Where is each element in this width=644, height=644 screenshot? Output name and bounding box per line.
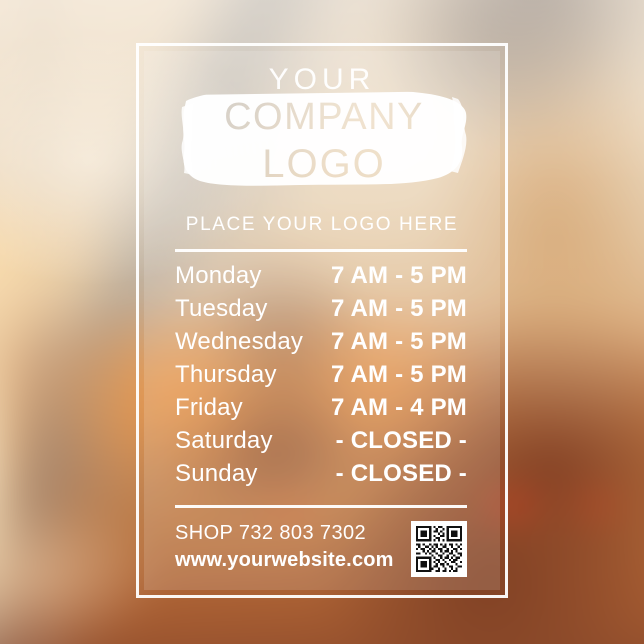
hours-day-label: Sunday bbox=[175, 460, 258, 488]
hours-time-value: - CLOSED - bbox=[336, 460, 467, 488]
hours-row: Saturday - CLOSED - bbox=[175, 427, 467, 460]
brush-stroke-logo: COMPANY LOGO bbox=[180, 83, 468, 191]
hours-day-label: Thursday bbox=[175, 361, 277, 389]
hours-row: Monday 7 AM - 5 PM bbox=[175, 262, 467, 295]
logo-placeholder-block: YOUR COMPANY LOGO bbox=[144, 55, 500, 205]
logo-tagline: PLACE YOUR LOGO HERE bbox=[144, 214, 500, 236]
hours-time-value: 7 AM - 5 PM bbox=[331, 328, 467, 356]
website-url: www.yourwebsite.com bbox=[175, 547, 394, 574]
opening-hours-list: Monday 7 AM - 5 PM Tuesday 7 AM - 5 PM W… bbox=[175, 262, 467, 493]
hours-row: Friday 7 AM - 4 PM bbox=[175, 394, 467, 427]
hours-day-label: Friday bbox=[175, 394, 243, 422]
hours-day-label: Tuesday bbox=[175, 295, 268, 323]
hours-day-label: Wednesday bbox=[175, 328, 303, 356]
hours-row: Sunday - CLOSED - bbox=[175, 460, 467, 493]
hours-row: Wednesday 7 AM - 5 PM bbox=[175, 328, 467, 361]
qr-code[interactable] bbox=[411, 521, 467, 577]
hours-time-value: 7 AM - 5 PM bbox=[331, 295, 467, 323]
hours-time-value: - CLOSED - bbox=[336, 427, 467, 455]
hours-day-label: Saturday bbox=[175, 427, 273, 455]
hours-time-value: 7 AM - 5 PM bbox=[331, 262, 467, 290]
hours-day-label: Monday bbox=[175, 262, 262, 290]
hours-row: Tuesday 7 AM - 5 PM bbox=[175, 295, 467, 328]
contact-block: SHOP 732 803 7302 www.yourwebsite.com bbox=[175, 520, 394, 574]
divider-top bbox=[175, 249, 467, 252]
divider-bottom bbox=[175, 505, 467, 508]
window-decal-poster: YOUR COMPANY LOGO bbox=[0, 0, 644, 644]
poster-footer: SHOP 732 803 7302 www.yourwebsite.com bbox=[175, 520, 467, 580]
hours-time-value: 7 AM - 4 PM bbox=[331, 394, 467, 422]
phone-number: SHOP 732 803 7302 bbox=[175, 520, 394, 547]
hours-time-value: 7 AM - 5 PM bbox=[331, 361, 467, 389]
hours-row: Thursday 7 AM - 5 PM bbox=[175, 361, 467, 394]
